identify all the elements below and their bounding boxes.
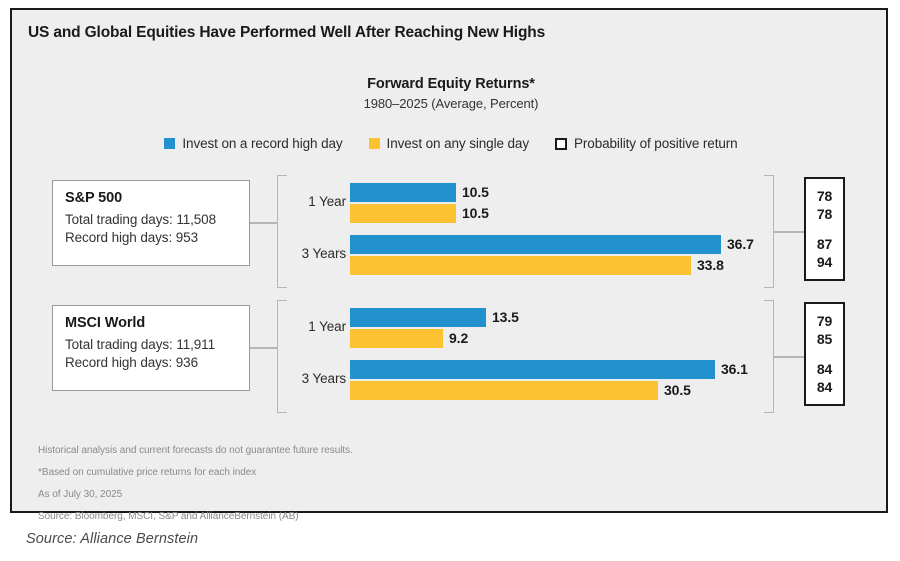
period-label-sp500-3years: 3 Years [290, 246, 346, 261]
prob-msci-1year-any-day: 85 [817, 330, 832, 348]
yellow-square-icon [369, 138, 380, 149]
legend-label-record-high: Invest on a record high day [182, 136, 342, 151]
probability-box-sp500: 78 78 87 94 [804, 177, 845, 281]
periods-sp500: 1 Year 10.5 10.5 3 Years [290, 175, 760, 288]
bar-value-msci-3years-record-high: 36.1 [721, 361, 748, 377]
right-connector-msci [774, 356, 804, 358]
bar-value-msci-3years-any-day: 30.5 [664, 382, 691, 398]
prob-msci-1year-record-high: 79 [817, 312, 832, 330]
period-label-sp500-1year: 1 Year [290, 194, 346, 209]
bar-msci-1year-any-day [350, 329, 443, 348]
period-row-sp500-1year: 1 Year 10.5 10.5 [290, 183, 760, 225]
page-title: US and Global Equities Have Performed We… [28, 24, 545, 42]
right-bracket-msci [764, 300, 774, 413]
bar-value-msci-1year-record-high: 13.5 [492, 309, 519, 325]
index-name-sp500: S&P 500 [65, 190, 237, 206]
index-total-days-msci: Total trading days: 11,911 [65, 336, 237, 354]
footnote-as-of-date: As of July 30, 2025 [38, 490, 738, 500]
prob-sp500-1year-record-high: 78 [817, 187, 832, 205]
probability-pair-3years: 87 94 [817, 235, 832, 272]
subtitle-block: Forward Equity Returns* 1980–2025 (Avera… [12, 76, 890, 111]
hollow-square-icon [555, 138, 567, 150]
probability-box-msci: 79 85 84 84 [804, 302, 845, 406]
probability-pair-1year: 79 85 [817, 312, 832, 349]
bar-msci-3years-record-high [350, 360, 715, 379]
external-source-line: Source: Alliance Bernstein [26, 531, 198, 547]
chart-panel: US and Global Equities Have Performed We… [10, 8, 888, 513]
legend-item-record-high: Invest on a record high day [164, 136, 342, 151]
subtitle-main: Forward Equity Returns* [12, 76, 890, 92]
prob-sp500-3years-any-day: 94 [817, 253, 832, 271]
card-connector-sp500 [250, 222, 278, 224]
period-label-msci-3years: 3 Years [290, 371, 346, 386]
bar-value-sp500-1year-any-day: 10.5 [462, 205, 489, 221]
prob-sp500-3years-record-high: 87 [817, 235, 832, 253]
index-total-days-sp500: Total trading days: 11,508 [65, 211, 237, 229]
bar-msci-1year-record-high [350, 308, 486, 327]
bar-value-sp500-3years-record-high: 36.7 [727, 236, 754, 252]
probability-pair-3years: 84 84 [817, 360, 832, 397]
prob-msci-3years-any-day: 84 [817, 378, 832, 396]
prob-msci-3years-record-high: 84 [817, 360, 832, 378]
footnote-asterisk: *Based on cumulative price returns for e… [38, 468, 738, 478]
card-connector-msci [250, 347, 278, 349]
legend-label-probability: Probability of positive return [574, 136, 738, 151]
index-group-sp500: S&P 500 Total trading days: 11,508 Recor… [12, 175, 890, 291]
probability-pair-1year: 78 78 [817, 187, 832, 224]
footnotes: Historical analysis and current forecast… [38, 446, 738, 534]
legend-item-any-day: Invest on any single day [369, 136, 529, 151]
period-row-msci-3years: 3 Years 36.1 30.5 [290, 360, 760, 402]
periods-msci: 1 Year 13.5 9.2 3 Years [290, 300, 760, 413]
blue-square-icon [164, 138, 175, 149]
bar-value-msci-1year-any-day: 9.2 [449, 330, 468, 346]
subtitle-sub: 1980–2025 (Average, Percent) [12, 96, 890, 111]
right-connector-sp500 [774, 231, 804, 233]
period-row-sp500-3years: 3 Years 36.7 33.8 [290, 235, 760, 277]
bar-value-sp500-3years-any-day: 33.8 [697, 257, 724, 273]
index-card-sp500: S&P 500 Total trading days: 11,508 Recor… [52, 180, 250, 266]
footnote-source: Source: Bloomberg, MSCI, S&P and Allianc… [38, 512, 738, 522]
bar-sp500-1year-record-high [350, 183, 456, 202]
period-row-msci-1year: 1 Year 13.5 9.2 [290, 308, 760, 350]
footnote-disclaimer: Historical analysis and current forecast… [38, 446, 738, 456]
bar-sp500-3years-any-day [350, 256, 691, 275]
right-bracket-sp500 [764, 175, 774, 288]
prob-sp500-1year-any-day: 78 [817, 205, 832, 223]
legend-item-probability: Probability of positive return [555, 136, 738, 151]
index-card-msci: MSCI World Total trading days: 11,911 Re… [52, 305, 250, 391]
left-bracket-sp500 [277, 175, 287, 288]
bar-sp500-3years-record-high [350, 235, 721, 254]
index-record-days-sp500: Record high days: 953 [65, 229, 237, 247]
left-bracket-msci [277, 300, 287, 413]
bar-sp500-1year-any-day [350, 204, 456, 223]
bar-msci-3years-any-day [350, 381, 658, 400]
bar-value-sp500-1year-record-high: 10.5 [462, 184, 489, 200]
index-group-msci: MSCI World Total trading days: 11,911 Re… [12, 300, 890, 416]
legend-label-any-day: Invest on any single day [387, 136, 529, 151]
chart-root: US and Global Equities Have Performed We… [0, 0, 900, 561]
index-record-days-msci: Record high days: 936 [65, 354, 237, 372]
chart-legend: Invest on a record high day Invest on an… [12, 136, 890, 151]
index-name-msci: MSCI World [65, 315, 237, 331]
period-label-msci-1year: 1 Year [290, 319, 346, 334]
